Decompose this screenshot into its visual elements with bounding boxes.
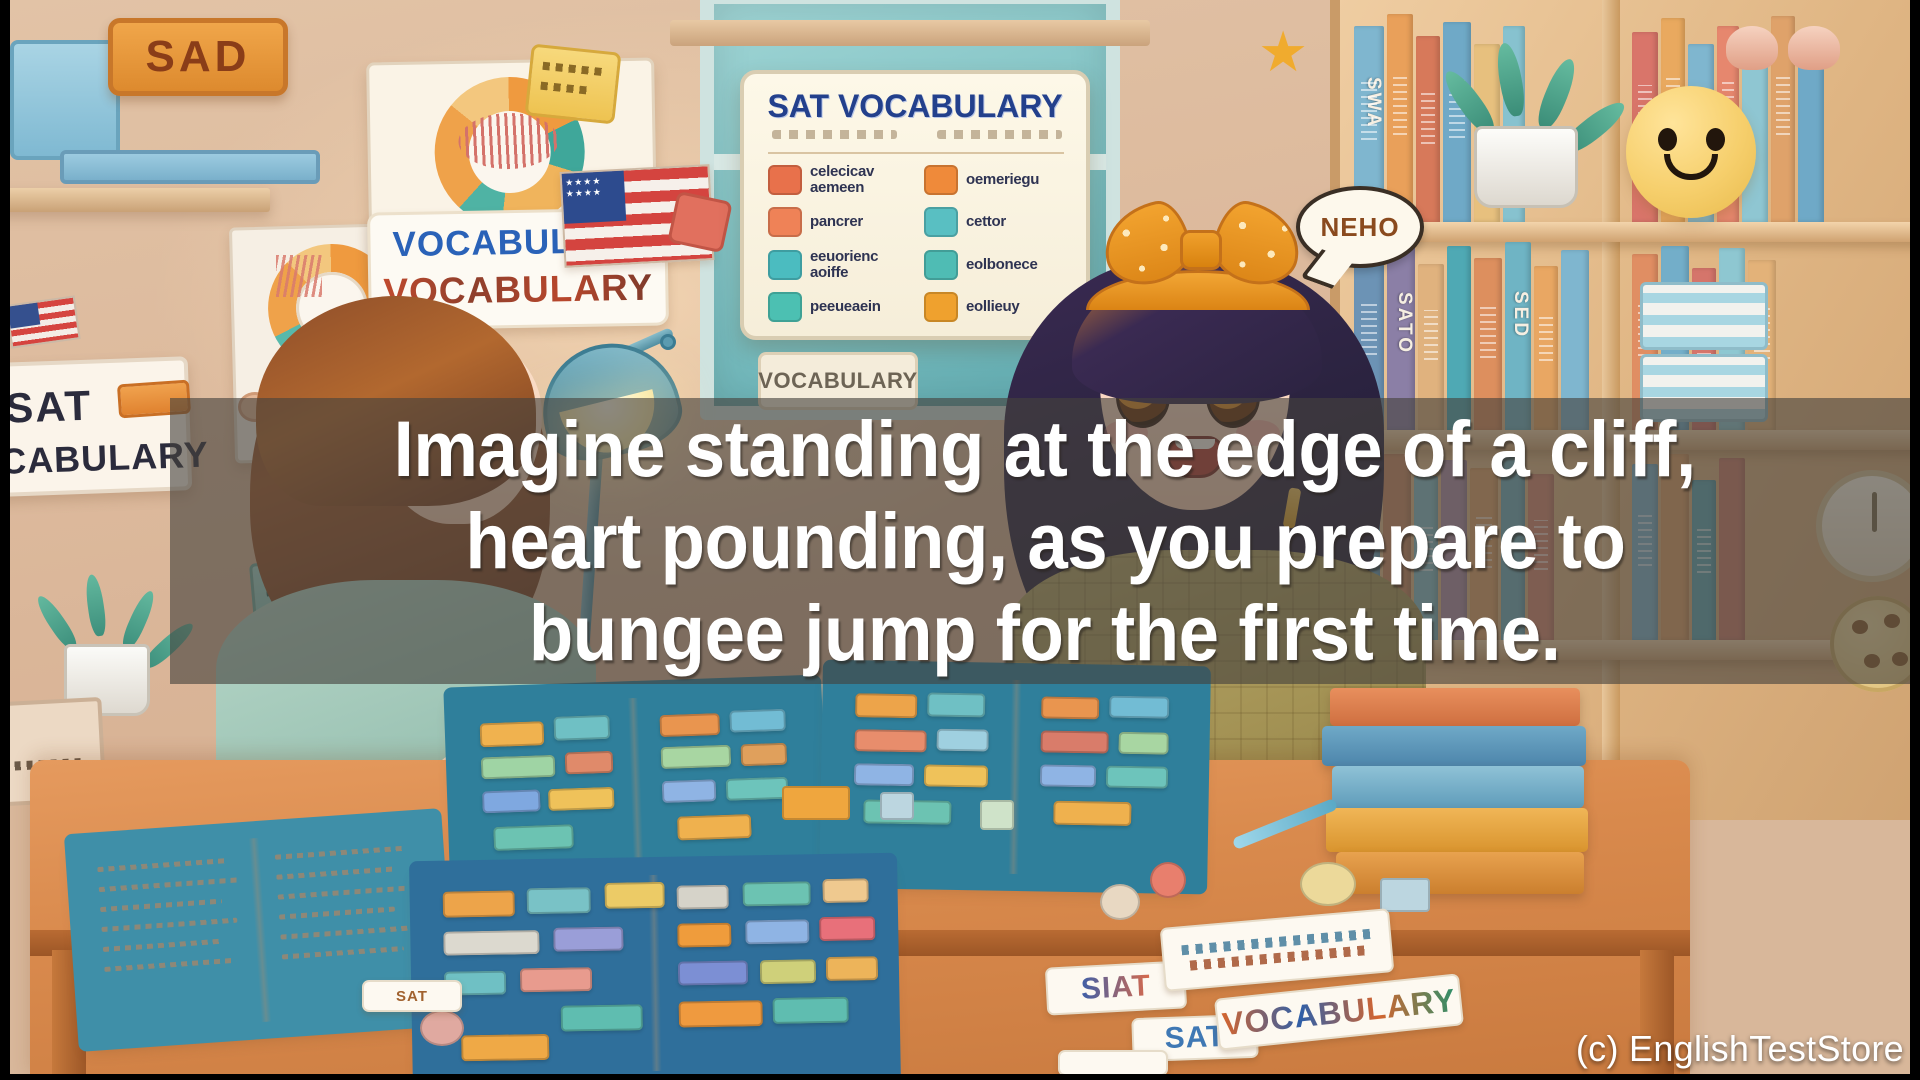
speech-bubble-text: NEHO (1320, 212, 1399, 243)
stacked-book (1326, 808, 1588, 852)
word-label: celecicav aemeen (810, 164, 910, 196)
leaf (1533, 55, 1581, 132)
leaf (119, 588, 159, 651)
bow-knot (1180, 230, 1222, 270)
sticker-round-red (1150, 862, 1186, 898)
plant-pot (1474, 126, 1578, 208)
speech-bubble: NEHO (1296, 186, 1424, 268)
poster-column-headers (772, 130, 1062, 152)
smiley-eye (1706, 128, 1725, 151)
frame-border-left (0, 0, 10, 1080)
window-sill (670, 20, 1150, 46)
word-chip (924, 250, 958, 280)
list-item: pancrer (768, 203, 910, 241)
leaf (83, 573, 107, 637)
word-chip (768, 207, 802, 237)
plant-right (1462, 36, 1590, 204)
word-chip (768, 292, 802, 322)
plant-left (48, 560, 168, 720)
word-label: eeuorienc aoiffe (810, 249, 910, 281)
book (1798, 46, 1824, 222)
smiley-mouth (1664, 154, 1718, 180)
sticker-round (1100, 884, 1140, 920)
shelf-book-blue (60, 150, 320, 184)
desk-label-text: SAT (396, 988, 428, 1005)
stacked-book (1322, 726, 1586, 766)
smiley-eye (1658, 128, 1677, 151)
video-frame: SAD SAT OCABULARY VOCABULARY VOCABULARY (0, 0, 1920, 1080)
list-item: eeuorienc aoiffe (768, 245, 910, 284)
card-sat-line1: SAT (4, 382, 93, 433)
shelf-box-blue (10, 40, 120, 160)
leaf (1493, 41, 1528, 118)
book-spine-label: SWA (1354, 77, 1384, 129)
stacked-book (1336, 852, 1584, 894)
lamp-knob (660, 334, 676, 350)
subtitle-line-2: heart pounding, as you prepare to (465, 495, 1625, 587)
desk-label-card-small: SAT (362, 980, 462, 1012)
sign-sad: SAD (108, 18, 288, 96)
open-book-front (418, 862, 892, 1080)
watermark: (c) EnglishTestStore (1576, 1028, 1904, 1070)
word-chip (768, 165, 802, 195)
wall-shelf-left (0, 188, 270, 212)
list-item: peeueaein (768, 288, 910, 326)
poster-rule (768, 152, 1064, 154)
eraser-green (980, 800, 1014, 830)
book-spine-label: SED (1505, 291, 1531, 339)
subtitle-line-1: Imagine standing at the edge of a cliff, (394, 403, 1696, 495)
badge-red (667, 191, 733, 254)
desk-tiny-card (1058, 1050, 1168, 1076)
eraser-orange (782, 786, 850, 820)
eraser-blue-2 (1380, 878, 1430, 912)
eraser-blue (880, 792, 914, 820)
sticker-round-pink (420, 1010, 464, 1046)
hair-bow-icon (1104, 204, 1300, 286)
word-chip (924, 165, 958, 195)
shell-decor (1726, 26, 1778, 70)
sticky-note-yellow (524, 43, 621, 124)
stacked-book (1330, 688, 1580, 726)
cookie-small (1300, 862, 1356, 906)
frame-border-right (1910, 0, 1920, 1080)
subtitle-line-3: bungee jump for the first time. (529, 587, 1561, 679)
subtitle-overlay: Imagine standing at the edge of a cliff,… (170, 398, 1920, 684)
smiley-face-ball (1626, 86, 1756, 218)
word-chip (924, 207, 958, 237)
card-sat-vocabulary-left: SAT OCABULARY (0, 356, 192, 498)
word-chip (768, 250, 802, 280)
word-label: peeueaein (810, 299, 881, 315)
frame-border-bottom (0, 1074, 1920, 1080)
storage-basket (1640, 282, 1768, 350)
shell-decor (1788, 26, 1840, 70)
desk-card-siat-text: SIAT (1080, 969, 1152, 1007)
word-label: pancrer (810, 214, 863, 230)
poster-title: SAT VOCABULARY (744, 88, 1086, 125)
word-chip (924, 292, 958, 322)
stacked-book (1332, 766, 1584, 808)
list-item: celecicav aemeen (768, 160, 910, 199)
